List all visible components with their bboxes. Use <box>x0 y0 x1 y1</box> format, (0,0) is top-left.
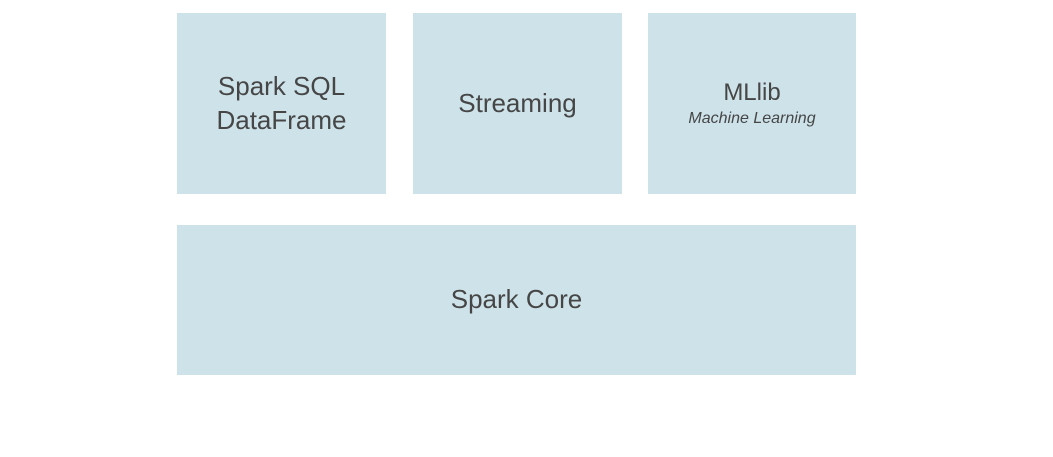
block-label-line1: Streaming <box>458 87 577 120</box>
diagram-block-mllib[interactable]: MLlib Machine Learning <box>648 13 856 194</box>
block-label-line1: Spark Core <box>451 283 583 316</box>
block-label-line2: DataFrame <box>216 104 346 137</box>
block-label-line1: Spark SQL <box>218 70 345 103</box>
block-label-line1: MLlib <box>723 79 780 108</box>
spark-stack-diagram: Spark SQL DataFrame Streaming MLlib Mach… <box>0 0 1053 457</box>
block-label-subtitle: Machine Learning <box>688 109 815 128</box>
diagram-block-spark-sql[interactable]: Spark SQL DataFrame <box>177 13 386 194</box>
diagram-block-spark-core[interactable]: Spark Core <box>177 225 856 375</box>
diagram-block-streaming[interactable]: Streaming <box>413 13 622 194</box>
